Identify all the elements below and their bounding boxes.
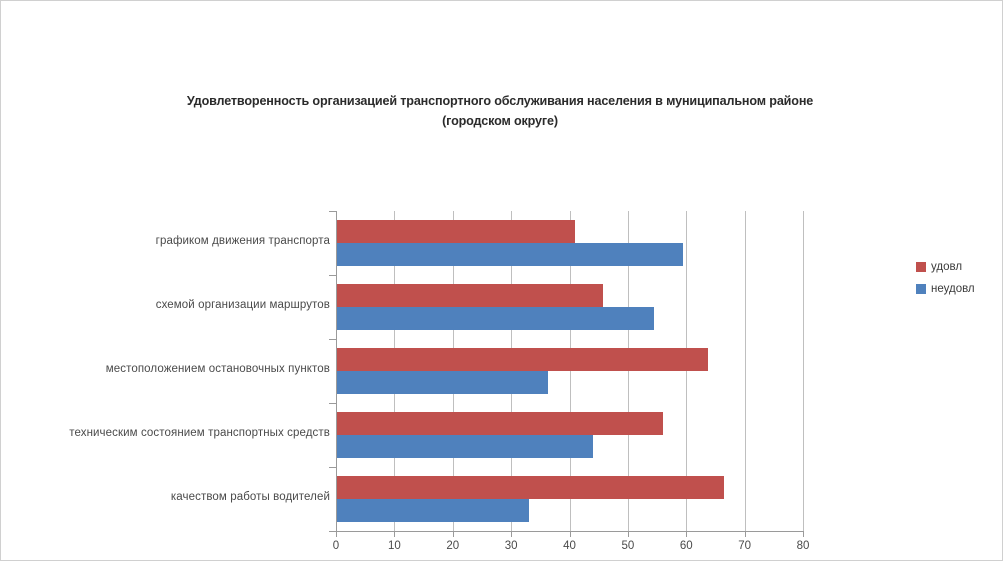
x-tick-label-20: 20: [433, 540, 473, 552]
bar-удовл-2[interactable]: [336, 348, 708, 371]
category-label-0: графиком движения транспорта: [10, 235, 330, 247]
x-tick-50: [628, 531, 629, 537]
legend-item-udovl[interactable]: удовл: [916, 256, 1003, 278]
y-tick-1: [329, 275, 336, 276]
legend-swatch-icon-neudovl: [916, 284, 926, 294]
chart-title-line-2: (городском округе): [70, 112, 930, 132]
bar-неудовл-4[interactable]: [336, 499, 529, 522]
legend-swatch-icon-udovl: [916, 262, 926, 272]
y-tick-5: [329, 531, 336, 532]
gridline-70: [745, 211, 746, 531]
bar-неудовл-2[interactable]: [336, 371, 548, 394]
category-label-3: техническим состоянием транспортных сред…: [10, 427, 330, 439]
x-tick-70: [745, 531, 746, 537]
x-tick-60: [686, 531, 687, 537]
x-tick-label-10: 10: [374, 540, 414, 552]
chart-title-line-1: Удовлетворенность организацией транспорт…: [187, 94, 813, 108]
legend-label-neudovl: неудовл: [931, 283, 975, 295]
chart-legend: удовл неудовл: [916, 256, 1003, 300]
x-tick-0: [336, 531, 337, 537]
x-tick-30: [511, 531, 512, 537]
category-label-1: схемой организации маршрутов: [10, 299, 330, 311]
x-tick-label-40: 40: [550, 540, 590, 552]
y-tick-2: [329, 339, 336, 340]
legend-item-neudovl[interactable]: неудовл: [916, 278, 1003, 300]
chart-title: Удовлетворенность организацией транспорт…: [70, 92, 930, 131]
bar-неудовл-1[interactable]: [336, 307, 654, 330]
bar-удовл-1[interactable]: [336, 284, 603, 307]
x-tick-10: [394, 531, 395, 537]
x-tick-40: [570, 531, 571, 537]
bar-удовл-3[interactable]: [336, 412, 663, 435]
x-tick-label-30: 30: [491, 540, 531, 552]
y-tick-4: [329, 467, 336, 468]
plot-area: [336, 211, 803, 531]
category-label-2: местоположением остановочных пунктов: [10, 363, 330, 375]
bar-удовл-4[interactable]: [336, 476, 724, 499]
bar-неудовл-0[interactable]: [336, 243, 683, 266]
bar-удовл-0[interactable]: [336, 220, 575, 243]
chart-screenshot: Удовлетворенность организацией транспорт…: [0, 0, 1003, 561]
y-axis-category-labels: графиком движения транспортасхемой орган…: [8, 211, 330, 531]
x-tick-80: [803, 531, 804, 537]
x-tick-label-80: 80: [783, 540, 823, 552]
gridline-80: [803, 211, 804, 531]
x-tick-label-60: 60: [666, 540, 706, 552]
legend-label-udovl: удовл: [931, 261, 962, 273]
x-tick-label-70: 70: [725, 540, 765, 552]
x-tick-label-0: 0: [316, 540, 356, 552]
y-axis-line: [336, 211, 337, 531]
x-tick-20: [453, 531, 454, 537]
x-tick-label-50: 50: [608, 540, 648, 552]
y-tick-0: [329, 211, 336, 212]
category-label-4: качеством работы водителей: [10, 491, 330, 503]
y-tick-3: [329, 403, 336, 404]
bar-неудовл-3[interactable]: [336, 435, 593, 458]
